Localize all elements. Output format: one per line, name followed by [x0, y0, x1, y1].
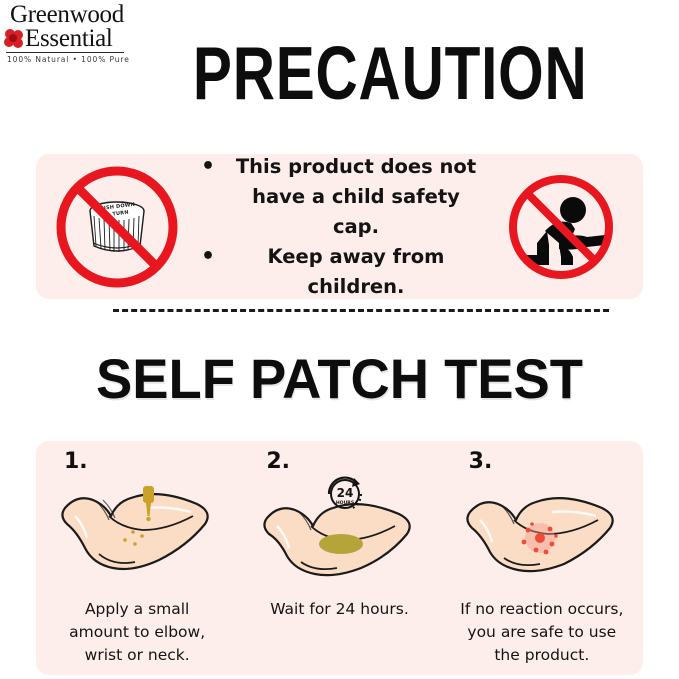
bullet-dot-icon: • [195, 242, 227, 272]
section-divider [113, 309, 609, 312]
patch-test-panels: 1. [36, 441, 643, 675]
svg-text:24: 24 [337, 486, 354, 500]
bullet-dot-icon: • [195, 152, 227, 182]
svg-text:HOURS: HOURS [336, 500, 354, 506]
page-title-precaution: PRECAUTION [75, 34, 605, 112]
step-caption: Apply a small amount to elbow, wrist or … [42, 598, 232, 667]
applied-patch [319, 534, 363, 554]
flower-icon [4, 29, 24, 49]
no-children-icon [501, 169, 621, 284]
elbow-with-timer-icon: 24 HOURS [238, 469, 440, 587]
no-child-safety-cap-icon: PUSH DOWN & TURN [44, 168, 189, 286]
brand-name-line1: Greenwood [10, 2, 128, 27]
precaution-bullet-2: • Keep away from children. [195, 242, 499, 302]
page-title-self-patch-test: SELF PATCH TEST [10, 350, 669, 408]
elbow-illustration [47, 472, 227, 584]
prohibition-symbol [52, 162, 182, 292]
elbow-illustration [452, 472, 632, 584]
elbow-with-dropper-icon [36, 469, 238, 587]
precaution-bullet-2-text: Keep away from children. [227, 242, 499, 302]
elbow-illustration: 24 HOURS [249, 472, 429, 584]
step-caption: Wait for 24 hours. [244, 598, 434, 621]
crawling-baby-illustration [501, 169, 621, 284]
24-hours-timer-icon: 24 HOURS [329, 478, 361, 508]
precaution-bullet-1: • This product does not have a child saf… [195, 152, 499, 242]
step-caption: If no reaction occurs, you are safe to u… [447, 598, 637, 667]
patch-test-step-3: 3. [441, 441, 643, 675]
patch-test-step-2: 2. 24 HOURS Wait for 24 hours. [238, 441, 440, 675]
precaution-text-block: • This product does not have a child saf… [189, 152, 501, 302]
precaution-card: PUSH DOWN & TURN • This product does not… [36, 154, 643, 299]
elbow-with-rash-icon [441, 469, 643, 587]
patch-test-step-1: 1. [36, 441, 238, 675]
precaution-bullet-1-text: This product does not have a child safet… [227, 152, 499, 242]
